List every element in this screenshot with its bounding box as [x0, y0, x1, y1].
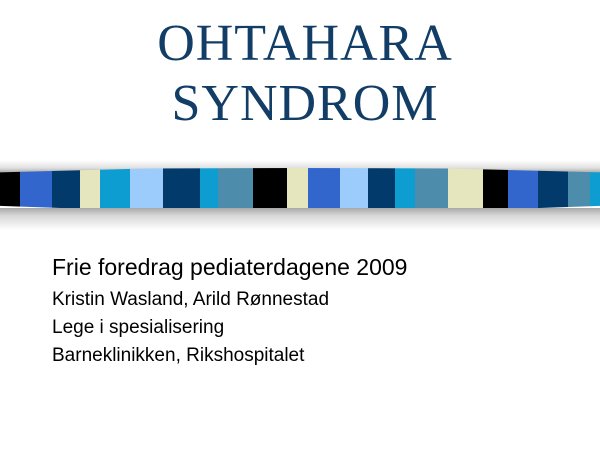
band-segment: [0, 168, 20, 212]
body-line-affiliation: Barneklinikken, Rikshospitalet: [52, 342, 572, 370]
band-segment: [200, 168, 218, 212]
body-line-role: Lege i spesialisering: [52, 314, 572, 342]
band-segment: [448, 168, 483, 212]
band-segment: [568, 168, 590, 212]
band-segment: [538, 168, 568, 212]
band-segment: [483, 168, 508, 212]
band-segment: [130, 168, 163, 212]
body-line-authors: Kristin Wasland, Arild Rønnestad: [52, 286, 572, 314]
band-segment: [20, 168, 52, 212]
band-stripe-strip: [0, 168, 600, 212]
slide-title: OHTAHARA SYNDROM: [0, 14, 600, 134]
band-segment: [253, 168, 287, 212]
band-segment: [415, 168, 448, 212]
band-segment: [395, 168, 415, 212]
band-segment: [308, 168, 340, 212]
band-segment: [52, 168, 80, 212]
slide-title-line-2: SYNDROM: [10, 74, 600, 134]
band-segment: [590, 168, 600, 212]
band-segment: [508, 168, 538, 212]
decorative-divider-band: [0, 160, 600, 230]
slide-body-text: Frie foredrag pediaterdagene 2009 Kristi…: [52, 252, 572, 370]
band-segment: [368, 168, 395, 212]
band-segment: [218, 168, 253, 212]
band-shadow-bottom: [0, 208, 600, 230]
presentation-slide: OHTAHARA SYNDROM Frie foredrag pediaterd…: [0, 0, 600, 450]
band-segment: [163, 168, 200, 212]
band-segment: [80, 168, 100, 212]
body-lead-line: Frie foredrag pediaterdagene 2009: [52, 252, 572, 282]
slide-title-line-1: OHTAHARA: [10, 14, 600, 74]
band-segment: [287, 168, 308, 212]
band-segment: [340, 168, 368, 212]
band-segment: [100, 168, 130, 212]
